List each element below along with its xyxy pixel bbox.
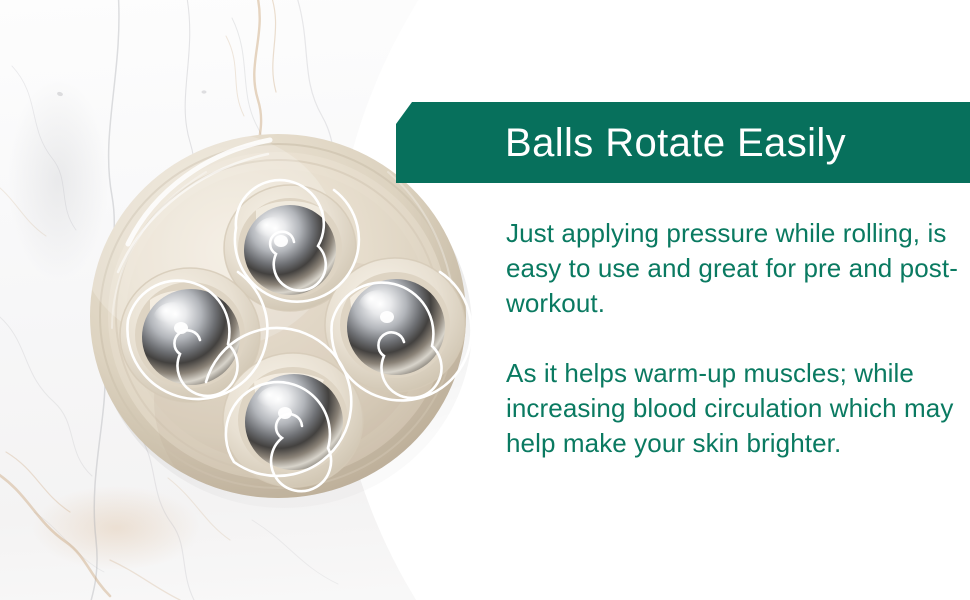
description-paragraph-2: As it helps warm-up muscles; while incre… <box>506 356 958 461</box>
page-title: Balls Rotate Easily <box>396 123 846 163</box>
product-feature-banner: Balls Rotate Easily Just applying pressu… <box>0 0 970 600</box>
description-text-block: Just applying pressure while rolling, is… <box>506 216 958 461</box>
title-banner: Balls Rotate Easily <box>396 102 970 183</box>
description-paragraph-1: Just applying pressure while rolling, is… <box>506 216 958 321</box>
product-image-roller-massager <box>88 132 468 502</box>
